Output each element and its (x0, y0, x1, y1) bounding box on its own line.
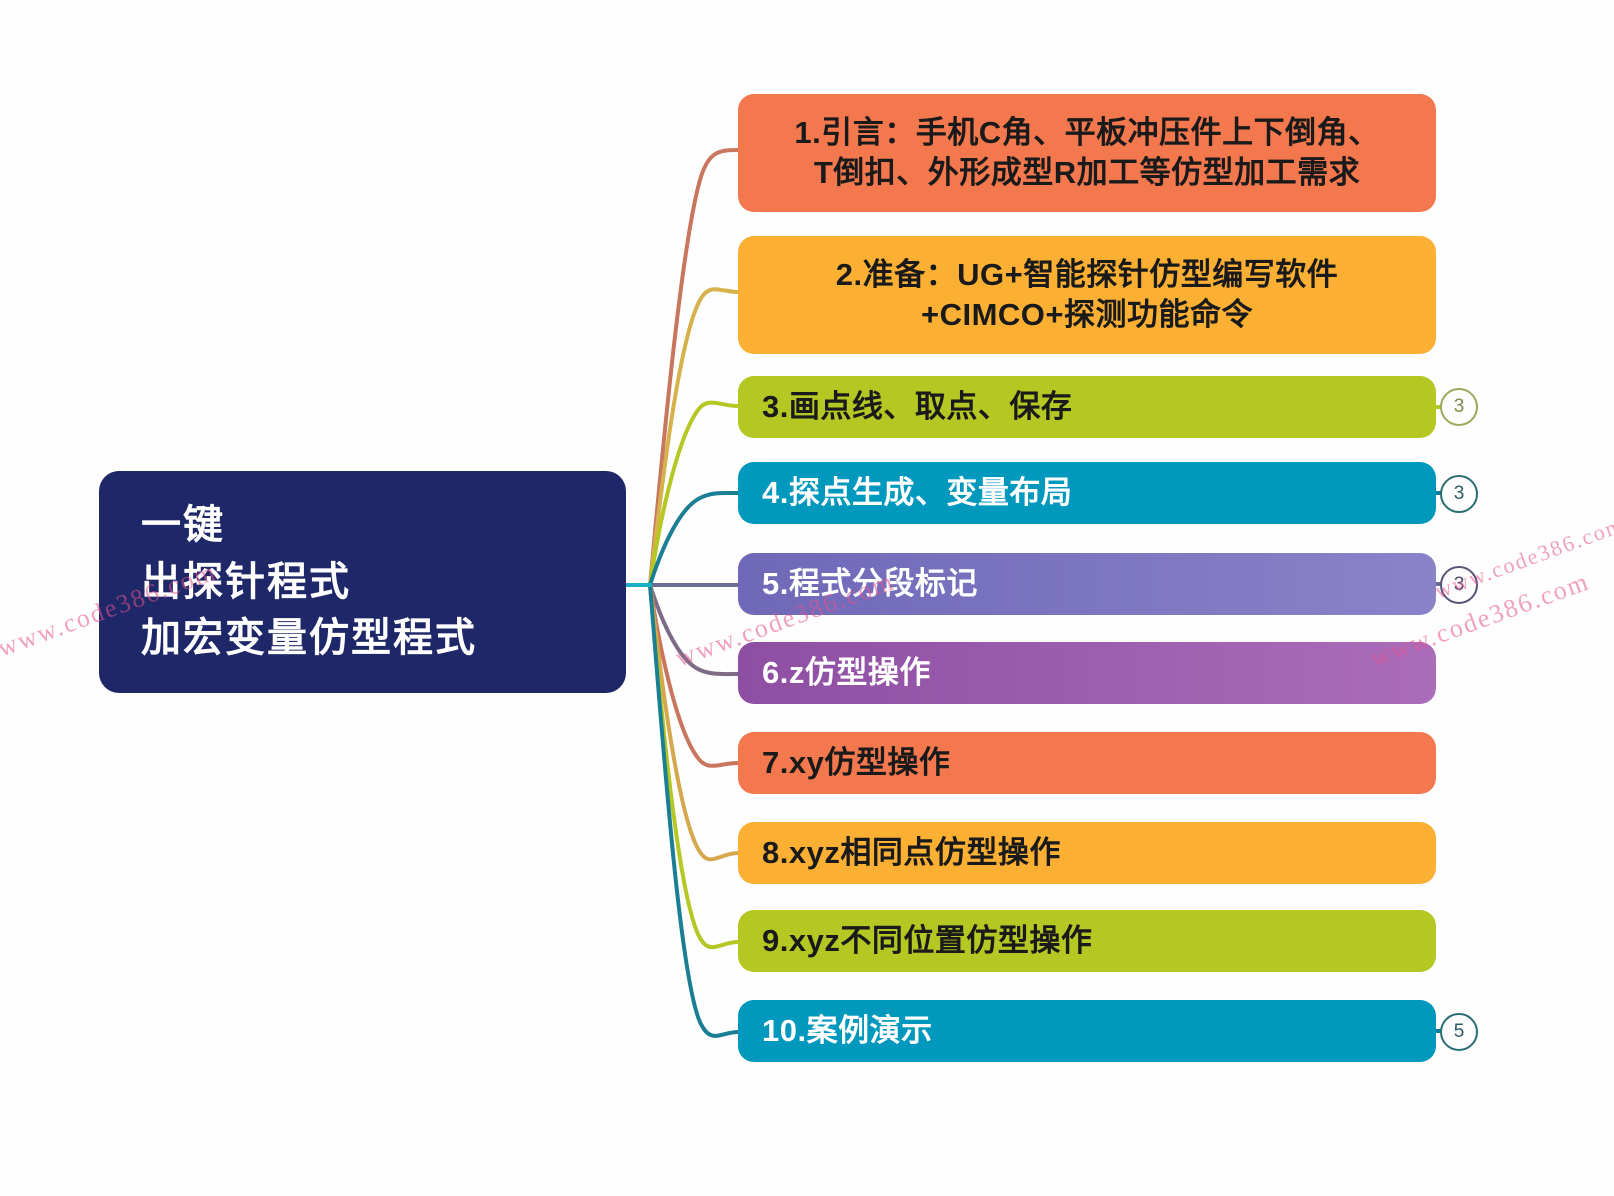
edge-3 (650, 403, 738, 585)
edge-9 (650, 585, 738, 947)
branch-node-7-label: 7.xy仿型操作 (762, 743, 950, 783)
branch-badge-10[interactable]: 5 (1440, 1013, 1478, 1051)
branch-node-7[interactable]: 7.xy仿型操作 (738, 732, 1436, 794)
center-node[interactable]: 一键 出探针程式 加宏变量仿型程式 (99, 471, 626, 693)
branch-badge-4[interactable]: 3 (1440, 475, 1478, 513)
edge-1 (650, 150, 738, 585)
branch-node-6-label: 6.z仿型操作 (762, 653, 931, 693)
mindmap-canvas: 一键 出探针程式 加宏变量仿型程式 1.引言：手机C角、平板冲压件上下倒角、 T… (0, 0, 1614, 1196)
branch-node-3[interactable]: 3.画点线、取点、保存 (738, 376, 1436, 438)
branch-node-4-label: 4.探点生成、变量布局 (762, 473, 1072, 513)
branch-badge-3[interactable]: 3 (1440, 388, 1478, 426)
branch-node-2[interactable]: 2.准备：UG+智能探针仿型编写软件 +CIMCO+探测功能命令 (738, 236, 1436, 354)
branch-badge-5[interactable]: 3 (1440, 566, 1478, 604)
branch-node-9-label: 9.xyz不同位置仿型操作 (762, 921, 1092, 961)
branch-node-1-label: 1.引言：手机C角、平板冲压件上下倒角、 T倒扣、外形成型R加工等仿型加工需求 (794, 113, 1379, 192)
branch-node-5[interactable]: 5.程式分段标记 (738, 553, 1436, 615)
edge-4 (650, 493, 738, 585)
branch-node-10[interactable]: 10.案例演示 (738, 1000, 1436, 1062)
edge-7 (650, 585, 738, 766)
branch-node-8[interactable]: 8.xyz相同点仿型操作 (738, 822, 1436, 884)
branch-node-3-label: 3.画点线、取点、保存 (762, 387, 1072, 427)
branch-node-8-label: 8.xyz相同点仿型操作 (762, 833, 1061, 873)
center-node-label: 一键 出探针程式 加宏变量仿型程式 (141, 497, 477, 667)
edge-10 (650, 585, 738, 1036)
branch-node-10-label: 10.案例演示 (762, 1011, 933, 1051)
edge-2 (650, 289, 738, 585)
branch-node-6[interactable]: 6.z仿型操作 (738, 642, 1436, 704)
edge-6 (650, 585, 738, 674)
branch-node-2-label: 2.准备：UG+智能探针仿型编写软件 +CIMCO+探测功能命令 (836, 255, 1338, 334)
branch-node-9[interactable]: 9.xyz不同位置仿型操作 (738, 910, 1436, 972)
branch-node-5-label: 5.程式分段标记 (762, 564, 978, 604)
branch-node-1[interactable]: 1.引言：手机C角、平板冲压件上下倒角、 T倒扣、外形成型R加工等仿型加工需求 (738, 94, 1436, 212)
branch-node-4[interactable]: 4.探点生成、变量布局 (738, 462, 1436, 524)
edge-8 (650, 585, 738, 859)
